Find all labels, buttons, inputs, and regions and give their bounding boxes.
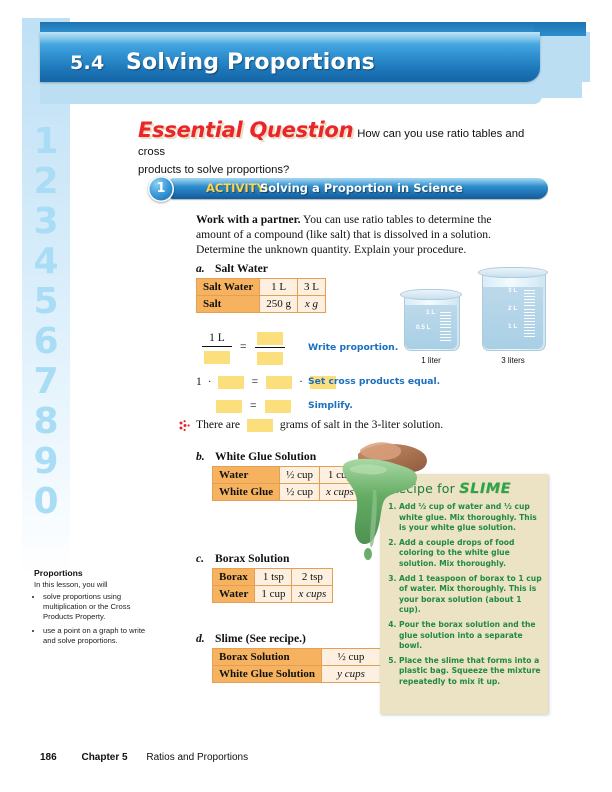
activity-intro-bold: Work with a partner. bbox=[196, 213, 301, 226]
decorative-digits: 1 2 3 4 5 6 7 8 9 0 bbox=[22, 122, 70, 522]
fraction-denominator bbox=[255, 349, 285, 365]
decor-digit: 6 bbox=[22, 322, 70, 362]
answer-blank[interactable] bbox=[216, 400, 242, 413]
cell-value: ½ cup bbox=[321, 649, 380, 666]
work-multiplier: 1 bbox=[196, 376, 202, 388]
answer-blank[interactable] bbox=[257, 332, 283, 345]
decor-digit: 0 bbox=[22, 482, 70, 522]
textbook-page: 1 2 3 4 5 6 7 8 9 0 5.4 Solving Proporti… bbox=[0, 0, 612, 792]
cell-header: Salt Water bbox=[197, 279, 260, 296]
fraction-left: 1 L bbox=[202, 332, 232, 364]
part-d-letter: d. bbox=[196, 632, 205, 645]
recipe-step: Add 1 teaspoon of borax to 1 cup of wate… bbox=[399, 574, 544, 616]
beaker-mark: 1 L bbox=[426, 309, 435, 316]
section-number: 5.4 bbox=[70, 52, 105, 74]
banner-main-bar: 5.4 Solving Proportions bbox=[40, 32, 540, 82]
cell-value: 3 L bbox=[297, 279, 325, 296]
cell-header: White Glue Solution bbox=[213, 666, 322, 683]
part-a-letter: a. bbox=[196, 262, 205, 275]
beaker-mark: 2 L bbox=[508, 305, 517, 312]
essential-question-label: Essential Question bbox=[138, 118, 353, 142]
beaker-rim bbox=[478, 267, 548, 278]
banner-pale-shelf bbox=[40, 82, 542, 104]
decor-digit: 3 bbox=[22, 202, 70, 242]
answer-blank[interactable] bbox=[266, 376, 292, 389]
activity-intro: Work with a partner. You can use ratio t… bbox=[196, 212, 514, 258]
cell-header: Borax bbox=[213, 569, 255, 586]
footer-chapter: Chapter 5 bbox=[81, 752, 127, 763]
part-b-title: White Glue Solution bbox=[215, 450, 316, 463]
margin-note-title: Proportions bbox=[34, 568, 154, 578]
activity-header: ACTIVITY: Solving a Proportion in Scienc… bbox=[148, 178, 548, 200]
page-title: Solving Proportions bbox=[126, 50, 375, 75]
red-arrow-bullet-icon bbox=[178, 419, 192, 433]
cell-value: ½ cup bbox=[280, 484, 320, 501]
banner-top-rule bbox=[40, 22, 582, 32]
cell-value: 1 tsp bbox=[255, 569, 292, 586]
fraction-numerator bbox=[255, 330, 285, 346]
conclusion-sentence: There are grams of salt in the 3-liter s… bbox=[196, 418, 443, 432]
page-footer: 186 Chapter 5 Ratios and Proportions bbox=[40, 752, 440, 763]
equals-sign: = bbox=[247, 376, 264, 388]
cell-header: Water bbox=[213, 467, 280, 484]
part-a-title: Salt Water bbox=[215, 262, 268, 275]
work-row-3: = bbox=[216, 398, 291, 413]
cell-value: x g bbox=[297, 296, 325, 313]
fraction-bar bbox=[255, 347, 285, 348]
beaker-rim bbox=[400, 289, 462, 300]
activity-title: Solving a Proportion in Science bbox=[260, 181, 463, 195]
cell-value: 1 cup bbox=[255, 586, 292, 603]
multiplication-dot: · bbox=[295, 376, 307, 388]
proportion-work-area: 1 L = Write proportion. 1 · = · Set cros… bbox=[196, 330, 526, 430]
answer-blank[interactable] bbox=[257, 352, 283, 365]
banner-curve-rule bbox=[534, 22, 586, 36]
part-d-title: Slime (See recipe.) bbox=[215, 632, 306, 645]
table-row: Borax 1 tsp 2 tsp bbox=[213, 569, 333, 586]
table-row: Water 1 cup x cups bbox=[213, 586, 333, 603]
cell-value: y cups bbox=[321, 666, 380, 683]
decor-digit: 5 bbox=[22, 282, 70, 322]
margin-note-bullet: use a point on a graph to write and solv… bbox=[43, 626, 154, 646]
essential-question-block: Essential Question How can you use ratio… bbox=[138, 118, 548, 178]
cell-header: Water bbox=[213, 586, 255, 603]
cell-value: 250 g bbox=[260, 296, 298, 313]
cell-value: x cups bbox=[292, 586, 333, 603]
recipe-step: Place the slime that forms into a plasti… bbox=[399, 656, 544, 688]
table-salt-water: Salt Water 1 L 3 L Salt 250 g x g bbox=[196, 278, 326, 313]
fraction-right bbox=[255, 330, 285, 365]
part-b-letter: b. bbox=[196, 450, 205, 463]
cell-value: 2 tsp bbox=[292, 569, 333, 586]
decor-digit: 2 bbox=[22, 162, 70, 202]
decor-digit: 4 bbox=[22, 242, 70, 282]
decor-digit: 7 bbox=[22, 362, 70, 402]
multiplication-dot: · bbox=[205, 376, 215, 388]
recipe-step: Pour the borax solution and the glue sol… bbox=[399, 620, 544, 652]
footer-chapter-title: Ratios and Proportions bbox=[146, 752, 248, 763]
page-number: 186 bbox=[40, 752, 57, 763]
fraction-bar bbox=[202, 346, 232, 347]
annotation-simplify: Simplify. bbox=[308, 400, 353, 411]
cell-header: Salt bbox=[197, 296, 260, 313]
activity-number-badge: 1 bbox=[148, 176, 174, 202]
beaker-mark: 1 L bbox=[508, 323, 517, 330]
decor-digit: 8 bbox=[22, 402, 70, 442]
activity-pill: ACTIVITY: Solving a Proportion in Scienc… bbox=[170, 178, 548, 199]
decor-digit: 9 bbox=[22, 442, 70, 482]
margin-note: Proportions In this lesson, you will sol… bbox=[34, 568, 154, 650]
cell-header: White Glue bbox=[213, 484, 280, 501]
conclusion-after: grams of salt in the 3-liter solution. bbox=[280, 418, 443, 431]
cell-value: ½ cup bbox=[280, 467, 320, 484]
answer-blank[interactable] bbox=[265, 400, 291, 413]
answer-blank[interactable] bbox=[218, 376, 244, 389]
equals-sign: = bbox=[235, 341, 252, 353]
annotation-cross-products: Set cross products equal. bbox=[308, 376, 440, 387]
annotation-write-proportion: Write proportion. bbox=[308, 342, 398, 353]
table-borax-solution: Borax 1 tsp 2 tsp Water 1 cup x cups bbox=[212, 568, 333, 603]
cell-value: 1 L bbox=[260, 279, 298, 296]
fraction-numerator: 1 L bbox=[202, 332, 232, 345]
margin-note-bullets: solve proportions using multiplication o… bbox=[34, 592, 154, 646]
recipe-title-word: SLIME bbox=[459, 481, 511, 497]
answer-blank[interactable] bbox=[204, 351, 230, 364]
margin-note-intro: In this lesson, you will bbox=[34, 580, 154, 590]
table-row: Salt 250 g x g bbox=[197, 296, 326, 313]
answer-blank[interactable] bbox=[247, 419, 273, 432]
essential-question-line2: products to solve proportions? bbox=[138, 162, 548, 178]
work-row-1: 1 L = bbox=[202, 330, 285, 365]
equals-sign: = bbox=[245, 400, 262, 412]
table-row: Salt Water 1 L 3 L bbox=[197, 279, 326, 296]
slime-photo bbox=[330, 438, 448, 563]
conclusion-before: There are bbox=[196, 418, 240, 431]
section-header-banner: 5.4 Solving Proportions bbox=[40, 22, 582, 102]
cell-header: Borax Solution bbox=[213, 649, 322, 666]
part-c-letter: c. bbox=[196, 552, 204, 565]
fraction-denominator bbox=[202, 348, 232, 364]
margin-note-bullet: solve proportions using multiplication o… bbox=[43, 592, 154, 622]
decor-digit: 1 bbox=[22, 122, 70, 162]
part-c-title: Borax Solution bbox=[215, 552, 289, 565]
beaker-mark: 3 L bbox=[508, 287, 517, 294]
